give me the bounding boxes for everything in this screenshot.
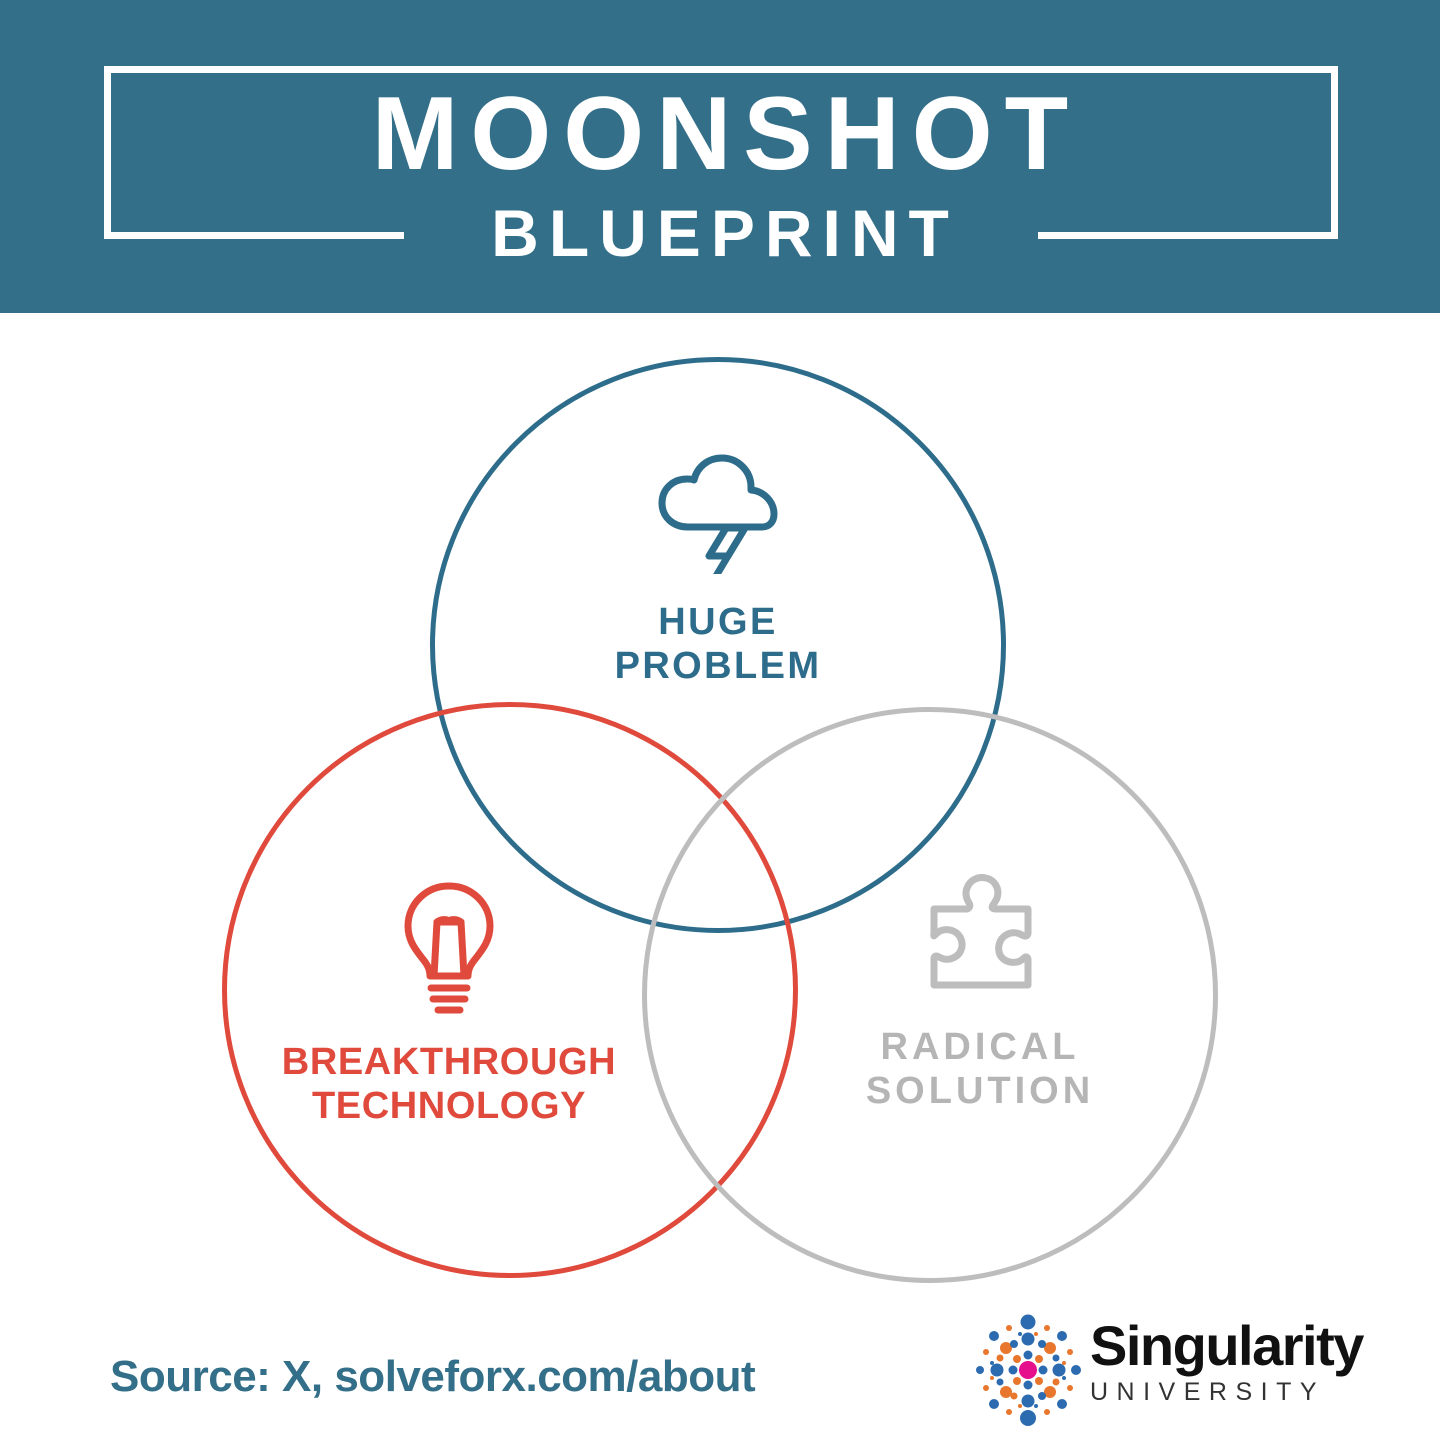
logo-subtitle: UNIVERSITY bbox=[1090, 1380, 1344, 1405]
source-attribution: Source: X, solveforx.com/about bbox=[110, 1352, 755, 1402]
singularity-university-logo: Singularity UNIVERSITY bbox=[972, 1312, 1344, 1428]
venn-node-radical-solution: RADICAL SOLUTION bbox=[810, 863, 1150, 1114]
logo-name: Singularity bbox=[1090, 1318, 1344, 1374]
puzzle-piece-icon bbox=[910, 863, 1050, 1003]
starburst-dots-icon bbox=[972, 1314, 1084, 1426]
venn-node-label-radical-solution: RADICAL SOLUTION bbox=[810, 1025, 1150, 1114]
page-title: MOONSHOT bbox=[0, 82, 1440, 186]
header-band: MOONSHOT BLUEPRINT bbox=[0, 0, 1440, 313]
venn-node-label-huge-problem: HUGE PROBLEM bbox=[548, 600, 888, 689]
singularity-university-wordmark: Singularity UNIVERSITY bbox=[1090, 1318, 1344, 1405]
page-subtitle: BLUEPRINT bbox=[0, 200, 1440, 266]
venn-node-huge-problem: HUGE PROBLEM bbox=[548, 438, 888, 689]
lightbulb-icon bbox=[393, 878, 505, 1014]
venn-node-label-breakthrough-technology: BREAKTHROUGH TECHNOLOGY bbox=[279, 1040, 619, 1129]
storm-cloud-lightning-icon bbox=[651, 438, 785, 574]
venn-node-breakthrough-technology: BREAKTHROUGH TECHNOLOGY bbox=[279, 878, 619, 1129]
venn-diagram: HUGE PROBLEM BREAKTHROUGH TECHNOLOGY RAD… bbox=[0, 313, 1440, 1273]
